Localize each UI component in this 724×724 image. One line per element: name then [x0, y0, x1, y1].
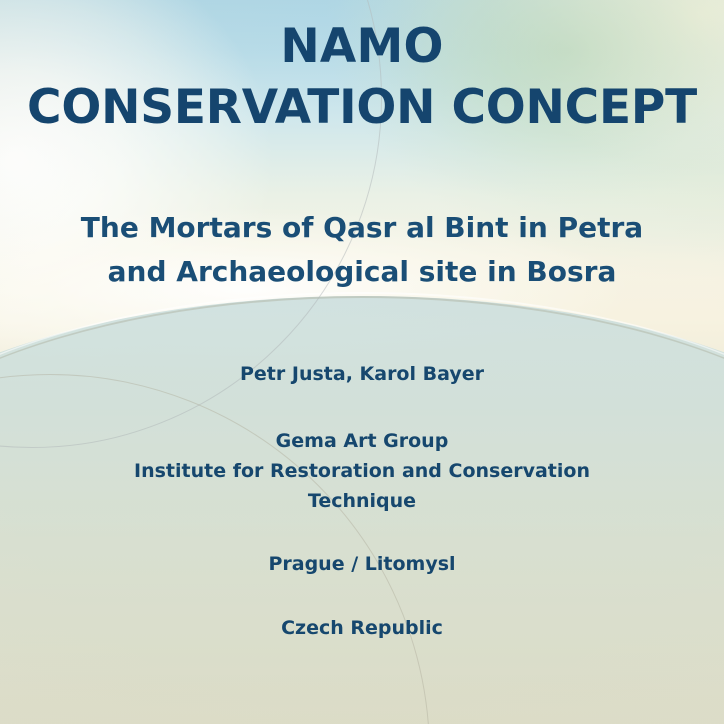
- affiliation-line-1: Gema Art Group: [0, 426, 724, 456]
- presentation-title-slide: NAMO CONSERVATION CONCEPT The Mortars of…: [0, 0, 724, 724]
- slide-content: NAMO CONSERVATION CONCEPT The Mortars of…: [0, 0, 724, 724]
- affiliation: Gema Art Group Institute for Restoration…: [0, 426, 724, 516]
- affiliation-line-3: Technique: [0, 486, 724, 516]
- authors-line: Petr Justa, Karol Bayer: [0, 361, 724, 387]
- subtitle-line-1: The Mortars of Qasr al Bint in Petra: [0, 206, 724, 250]
- country-line: Czech Republic: [0, 615, 724, 641]
- title-line-2: CONSERVATION CONCEPT: [0, 77, 724, 138]
- country-location: Czech Republic: [0, 615, 724, 641]
- city-line: Prague / Litomysl: [0, 551, 724, 577]
- slide-subtitle: The Mortars of Qasr al Bint in Petra and…: [0, 206, 724, 294]
- city-location: Prague / Litomysl: [0, 551, 724, 577]
- subtitle-line-2: and Archaeological site in Bosra: [0, 250, 724, 294]
- authors: Petr Justa, Karol Bayer: [0, 361, 724, 387]
- title-line-1: NAMO: [0, 16, 724, 77]
- slide-title: NAMO CONSERVATION CONCEPT: [0, 16, 724, 138]
- affiliation-line-2: Institute for Restoration and Conservati…: [0, 456, 724, 486]
